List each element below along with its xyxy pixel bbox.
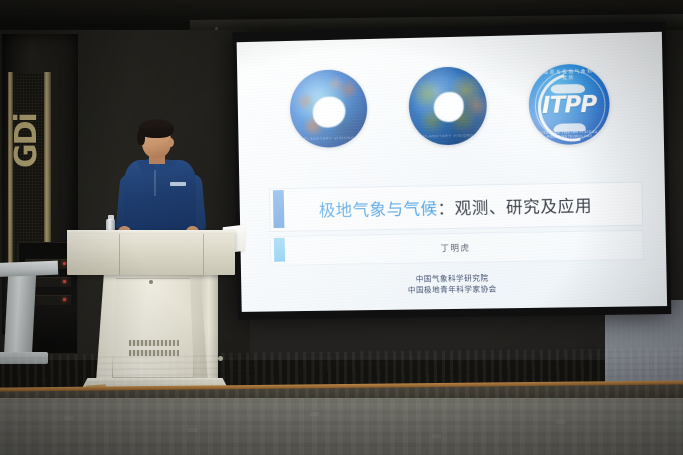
itpp-institute-logo: 青藏高原与极地气象科学研究所 ITPP INSTITUTE OF TIBETAN… bbox=[528, 63, 610, 145]
presenter bbox=[112, 118, 208, 248]
itpp-logo-acronym: ITPP bbox=[529, 93, 610, 118]
podium-front-lip bbox=[67, 230, 235, 234]
podium-seam bbox=[119, 230, 120, 275]
slide-affiliation: 中国气象科学研究院 中国极地青年科学家协会 bbox=[241, 270, 667, 298]
presenter-shirt-placket bbox=[154, 170, 156, 196]
presenter-shirt-logo bbox=[170, 182, 186, 186]
rack-status-led bbox=[63, 262, 66, 265]
slide-author-box: 丁明虎 bbox=[270, 230, 644, 266]
slide-title-accent-bar bbox=[273, 190, 285, 228]
slide-title-accent-part: 极地气象与气候 bbox=[319, 195, 438, 221]
presenter-hair-side bbox=[137, 128, 145, 145]
slide-author-accent-bar bbox=[274, 238, 285, 262]
slide-image-row: PLANETARY VISIONS PLANETARY VISIONS 青藏高原… bbox=[237, 62, 664, 151]
presenter-ear bbox=[168, 138, 174, 147]
presentation-room-photo: GDi PLANETARY VISIONS PL bbox=[0, 0, 683, 455]
globe-watermark: PLANETARY VISIONS bbox=[291, 135, 368, 142]
rack-status-led bbox=[63, 298, 66, 301]
podium-knob bbox=[149, 280, 153, 284]
slide-title-box: 极地气象与气候：观测、研究及应用 bbox=[269, 181, 643, 232]
itpp-logo-english-ring-text: INSTITUTE OF TIBETAN PLATEAU AND POLAR M… bbox=[529, 130, 610, 140]
presentation-slide: PLANETARY VISIONS PLANETARY VISIONS 青藏高原… bbox=[237, 32, 668, 312]
tower-brand-logo: GDi bbox=[12, 104, 46, 178]
slide-title: 极地气象与气候：观测、研究及应用 bbox=[270, 182, 642, 231]
slide-title-body-part: ：观测、研究及应用 bbox=[437, 192, 592, 219]
globe-watermark: PLANETARY VISIONS bbox=[409, 132, 487, 139]
side-table-top bbox=[0, 261, 58, 278]
podium-top-surface bbox=[67, 230, 235, 275]
carpet-floor bbox=[0, 398, 683, 455]
podium-vent-grille bbox=[129, 340, 179, 346]
globe-arctic-image: PLANETARY VISIONS bbox=[408, 66, 487, 146]
side-table-leg bbox=[4, 272, 37, 360]
slide-author: 丁明虎 bbox=[271, 231, 643, 265]
podium-seam bbox=[203, 230, 204, 275]
projection-screen: PLANETARY VISIONS PLANETARY VISIONS 青藏高原… bbox=[237, 32, 668, 312]
rack-status-led bbox=[63, 280, 66, 283]
projection-screen-frame: PLANETARY VISIONS PLANETARY VISIONS 青藏高原… bbox=[233, 22, 672, 320]
globe-antarctic-image: PLANETARY VISIONS bbox=[289, 69, 368, 148]
